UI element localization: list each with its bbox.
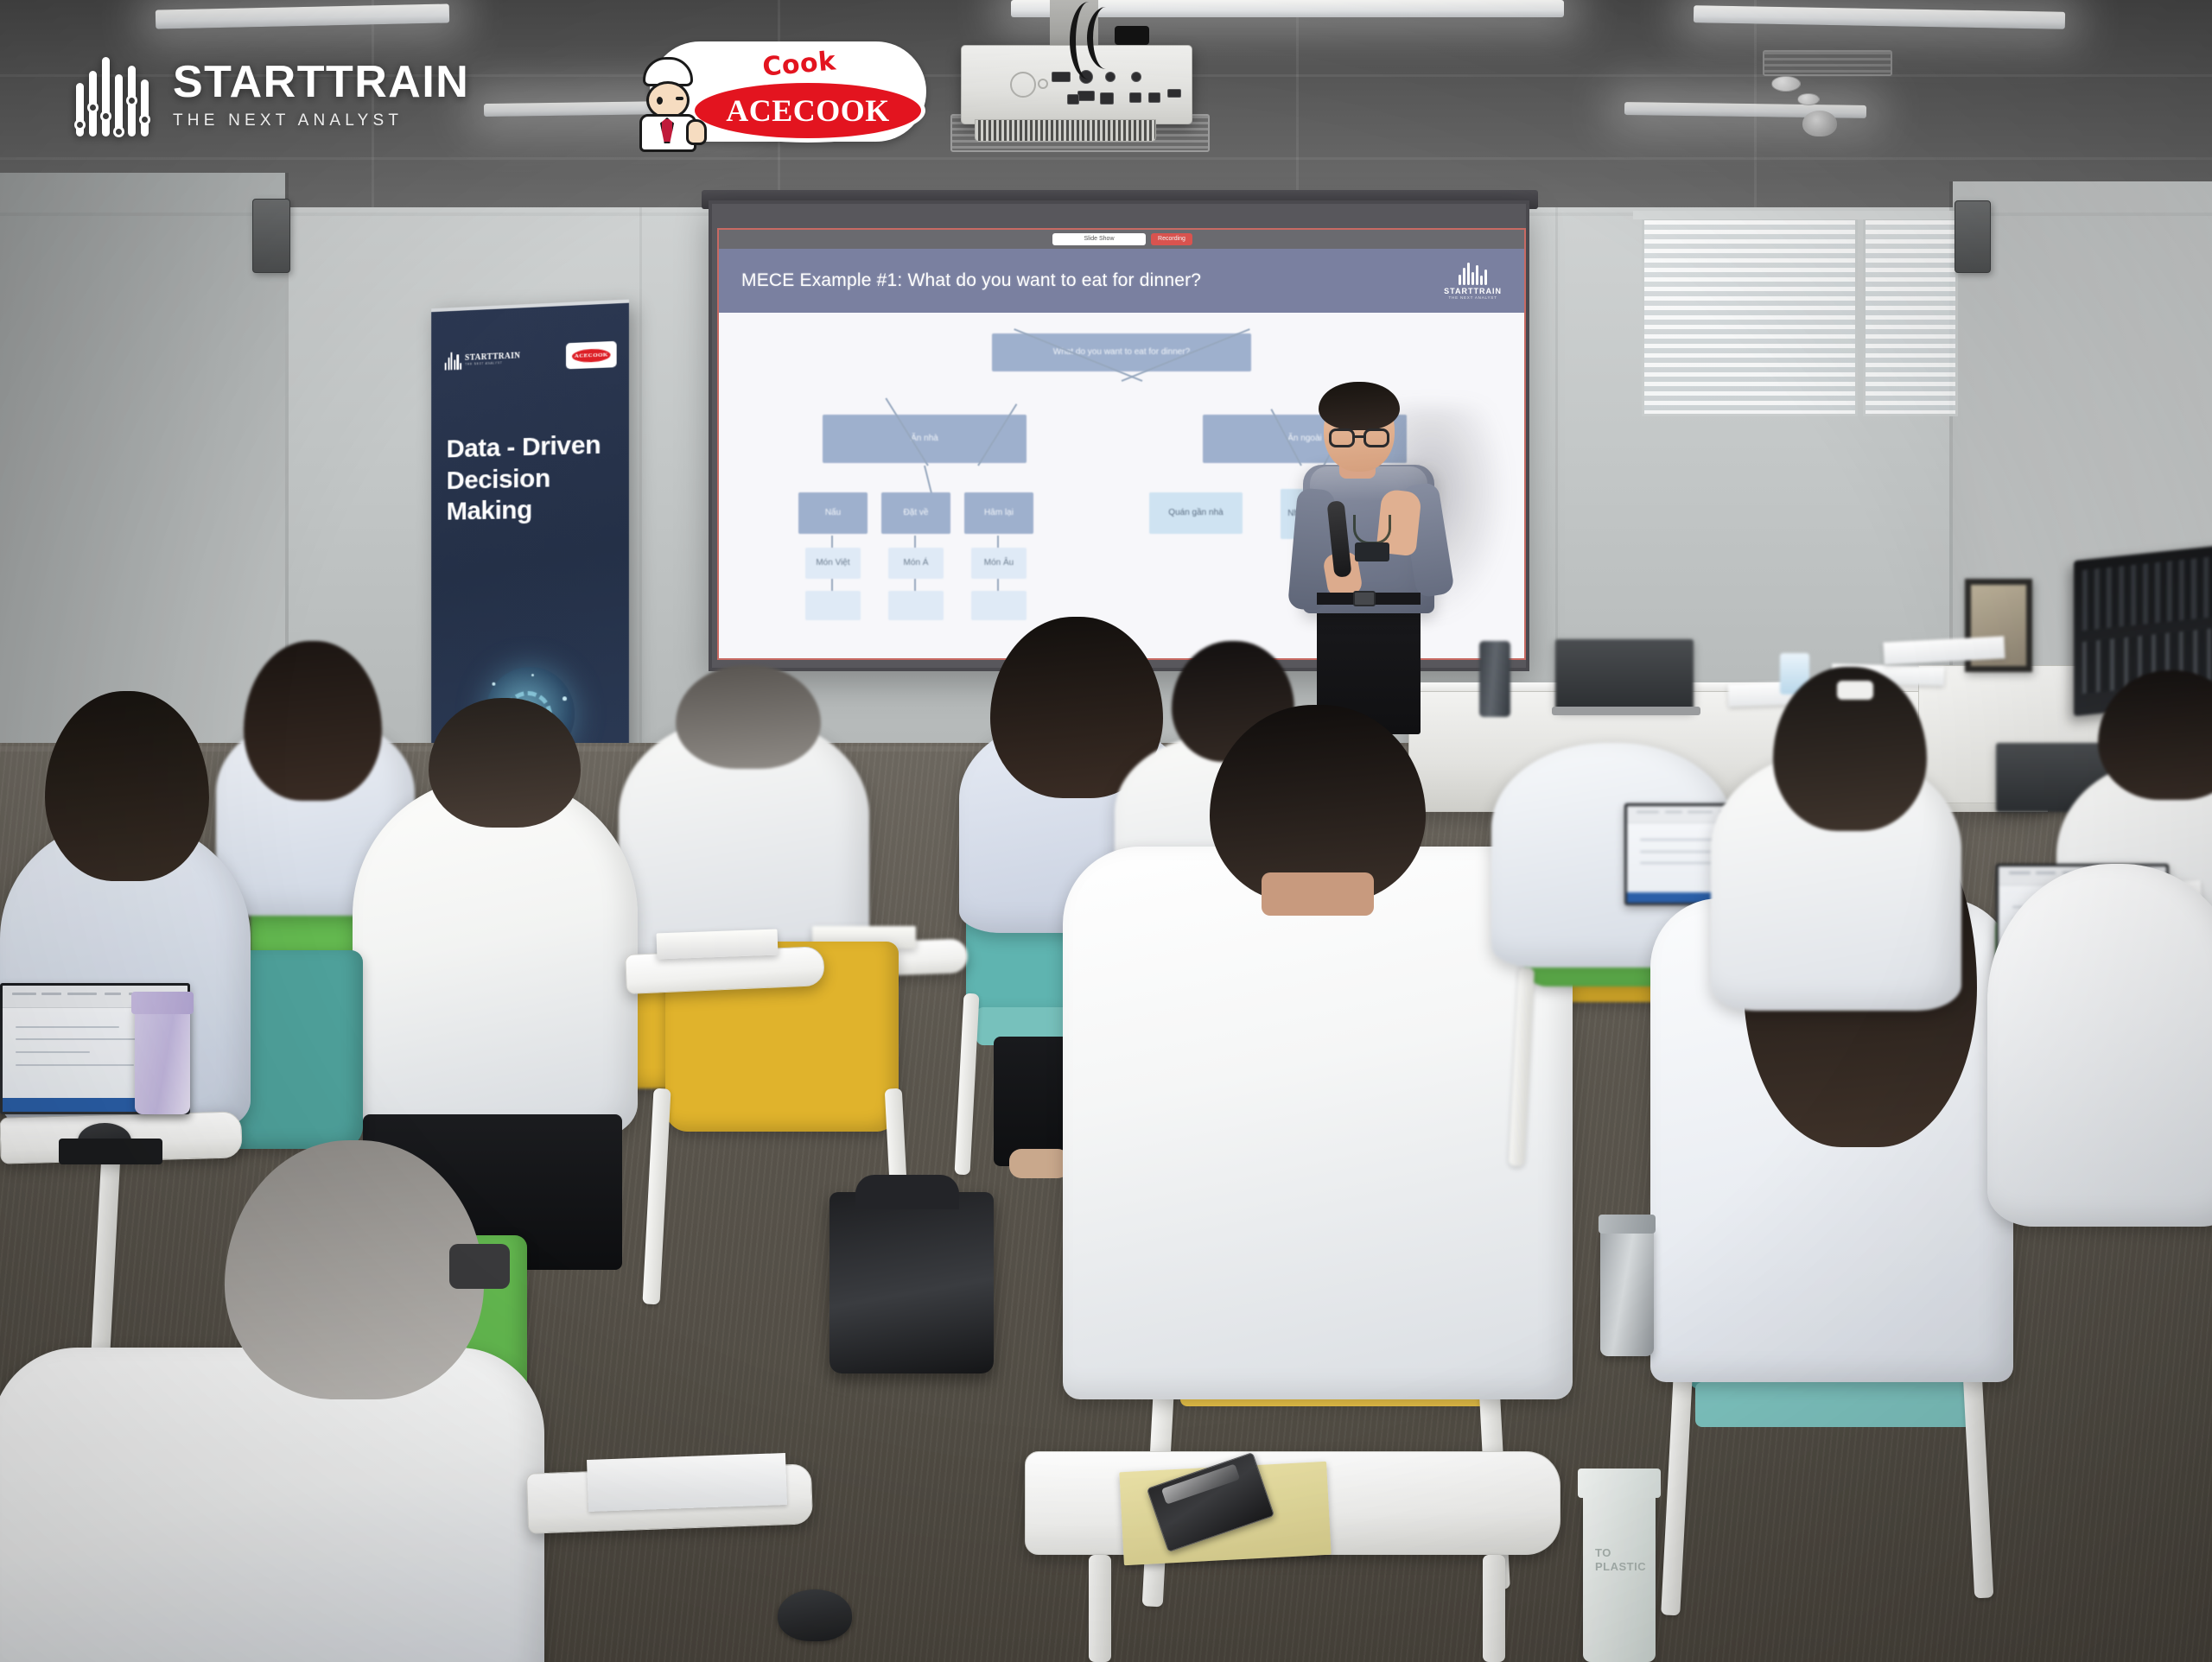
smoke-detector-icon xyxy=(1771,76,1801,92)
thermos-bottle xyxy=(1479,641,1510,717)
presenter-laptop xyxy=(1555,639,1694,710)
classroom-photo: Slide Show Recording MECE Example #1: Wh… xyxy=(0,0,2212,1662)
recording-pill[interactable]: Recording xyxy=(1151,233,1192,245)
water-bottle: TO PLASTIC xyxy=(1583,1493,1656,1662)
banner-acecook-logo: ACECOOK xyxy=(566,341,617,370)
belt-buckle xyxy=(1353,591,1376,606)
papers xyxy=(587,1453,787,1512)
attendee-hair xyxy=(676,665,821,769)
ceiling-grid-line xyxy=(1296,0,1299,207)
bottle-cap xyxy=(1599,1215,1656,1234)
foot xyxy=(1009,1149,1070,1178)
badge xyxy=(1355,542,1389,561)
attendee-shirt xyxy=(353,777,638,1140)
mouse-pad xyxy=(59,1139,162,1164)
banner-logo-row: STARTTRAIN THE NEXT ANALYST ACECOOK xyxy=(445,337,617,378)
attendee-hair xyxy=(244,641,382,801)
cable-connector xyxy=(1115,26,1149,45)
backpack-handle xyxy=(855,1175,959,1209)
banner-title-line: Decision xyxy=(447,461,619,497)
ceiling-vent xyxy=(1763,50,1892,76)
window-header xyxy=(1633,211,1967,219)
left-wall-speaker xyxy=(252,199,290,273)
banner-acecook-text: ACECOOK xyxy=(572,348,611,363)
smoke-detector-icon xyxy=(1797,93,1820,105)
slideshow-pill[interactable]: Slide Show xyxy=(1052,233,1146,245)
starttrain-title: STARTTRAIN xyxy=(173,60,469,105)
banner-starttrain-logo: STARTTRAIN THE NEXT ANALYST xyxy=(445,349,521,370)
wall-seam xyxy=(639,207,642,743)
diagram-node: Ăn nhà xyxy=(823,415,1027,463)
equalizer-bars-icon xyxy=(76,54,150,136)
attendee-hair xyxy=(45,691,209,881)
diagram-node: Đặt về xyxy=(881,492,950,534)
chef-mascot-icon xyxy=(627,57,710,150)
attendee-shirt xyxy=(1987,864,2212,1227)
diagram-node: Nấu xyxy=(798,492,868,534)
metal-flask xyxy=(1600,1227,1654,1356)
bottle-cap xyxy=(1578,1469,1661,1498)
equalizer-bars-icon xyxy=(445,352,462,371)
diagram-node: Hâm lại xyxy=(964,492,1033,534)
window xyxy=(1863,218,1958,416)
slide-header: MECE Example #1: What do you want to eat… xyxy=(719,249,1524,313)
diagram-node: Món Âu xyxy=(971,548,1027,579)
banner-title-line: Data - Driven xyxy=(447,429,619,466)
presenter-hair xyxy=(1319,382,1400,430)
diagram-node: Quán gần nhà xyxy=(1149,492,1243,534)
window xyxy=(1642,218,1858,416)
bottle-label: TO PLASTIC xyxy=(1595,1546,1645,1581)
slide-title: MECE Example #1: What do you want to eat… xyxy=(741,270,1201,291)
starttrain-logo: STARTTRAIN THE NEXT ANALYST xyxy=(76,54,469,136)
desk-leg xyxy=(1089,1555,1111,1662)
glasses-icon xyxy=(1329,428,1355,447)
acecook-logo: Cook happiness ACECOOK xyxy=(620,31,931,152)
slide-brand-logo: STARTTRAIN THE NEXT ANALYST xyxy=(1444,263,1502,300)
glasses-icon xyxy=(449,1244,510,1289)
computer-mouse xyxy=(778,1589,852,1641)
attendee-shirt xyxy=(0,1348,544,1662)
desk-leg xyxy=(1483,1555,1505,1662)
attendee-neck xyxy=(1262,872,1374,916)
starttrain-tagline: THE NEXT ANALYST xyxy=(173,111,469,130)
backpack xyxy=(829,1192,994,1373)
diagram-node: Món Việt xyxy=(805,548,861,579)
hair-clip xyxy=(1837,681,1873,700)
right-wall-speaker xyxy=(1955,200,1991,273)
projector-vent xyxy=(975,119,1156,142)
laptop-base xyxy=(1552,707,1700,715)
banner-title-line: Making xyxy=(447,493,619,528)
slide-logo-subtext: THE NEXT ANALYST xyxy=(1449,295,1497,300)
ceiling-grid-line xyxy=(0,157,2212,160)
lanyard xyxy=(1353,515,1391,544)
equalizer-bars-icon xyxy=(1459,263,1487,285)
acecook-brand-oval: ACECOOK xyxy=(695,83,921,138)
thermos-bottle xyxy=(135,1002,190,1114)
attendee-hair xyxy=(429,698,581,828)
banner-title: Data - Driven Decision Making xyxy=(447,429,619,528)
acecook-brand-text: ACECOOK xyxy=(695,83,921,138)
bottle-cap xyxy=(131,992,194,1014)
notebook xyxy=(657,929,779,960)
diagram-root-node: What do you want to eat for dinner? xyxy=(992,333,1251,371)
diagram-node: Món Á xyxy=(888,548,944,579)
ceiling-camera-icon xyxy=(1802,111,1837,136)
slide-logo-text: STARTTRAIN xyxy=(1444,287,1502,295)
